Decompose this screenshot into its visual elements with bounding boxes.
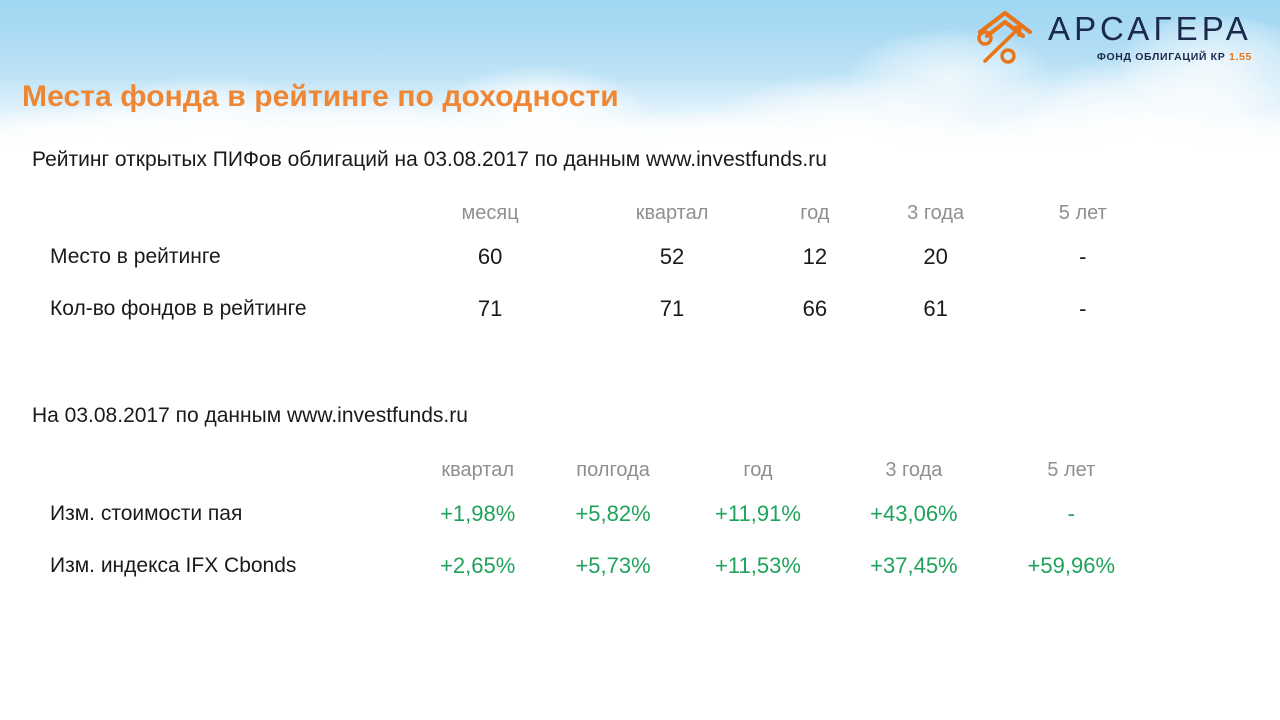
cell-unit-5years: -: [993, 488, 1150, 540]
column-header-5years: 5 лет: [1016, 195, 1150, 231]
table-row: Изм. индекса IFX Cbonds +2,65% +5,73% +1…: [32, 540, 1150, 592]
row-label-funds-count: Кол-во фондов в рейтинге: [32, 283, 410, 335]
cell-index-halfyear: +5,73%: [545, 540, 680, 592]
cell-count-month: 71: [410, 283, 570, 335]
column-header-5years: 5 лет: [993, 452, 1150, 488]
row-label-index-change: Изм. индекса IFX Cbonds: [32, 540, 410, 592]
column-header-halfyear: полгода: [545, 452, 680, 488]
cloud-decoration: [980, 58, 1280, 150]
cell-count-quarter: 71: [570, 283, 774, 335]
cloud-decoration: [560, 110, 840, 150]
cell-count-year: 66: [774, 283, 856, 335]
column-header-year: год: [774, 195, 856, 231]
column-header-blank: [32, 452, 410, 488]
table-header-row: квартал полгода год 3 года 5 лет: [32, 452, 1150, 488]
column-header-quarter: квартал: [410, 452, 545, 488]
column-header-blank: [32, 195, 410, 231]
cell-unit-year: +11,91%: [681, 488, 835, 540]
table-row: Кол-во фондов в рейтинге 71 71 66 61 -: [32, 283, 1150, 335]
cell-index-quarter: +2,65%: [410, 540, 545, 592]
table-row: Изм. стоимости пая +1,98% +5,82% +11,91%…: [32, 488, 1150, 540]
ranking-table: месяц квартал год 3 года 5 лет Место в р…: [32, 195, 1150, 335]
logo-subtitle: ФОНД ОБЛИГАЦИЙ КР 1.55: [1097, 51, 1252, 63]
logo-wordmark: АРСАГЕРА: [1048, 12, 1252, 45]
cell-unit-3years: +43,06%: [835, 488, 992, 540]
column-header-month: месяц: [410, 195, 570, 231]
logo-text-block: АРСАГЕРА ФОНД ОБЛИГАЦИЙ КР 1.55: [1048, 8, 1252, 63]
cell-unit-halfyear: +5,82%: [545, 488, 680, 540]
column-header-3years: 3 года: [856, 195, 1016, 231]
cell-count-3years: 61: [856, 283, 1016, 335]
cell-index-5years: +59,96%: [993, 540, 1150, 592]
column-header-3years: 3 года: [835, 452, 992, 488]
page-title: Места фонда в рейтинге по доходности: [22, 80, 619, 114]
table-row: Место в рейтинге 60 52 12 20 -: [32, 231, 1150, 283]
section2-lead-text: На 03.08.2017 по данным www.investfunds.…: [32, 404, 468, 428]
cloud-decoration: [700, 74, 1000, 150]
cell-rank-5years: -: [1016, 231, 1150, 283]
arsagera-house-percent-logo-icon: [972, 8, 1038, 66]
section1-lead-text: Рейтинг открытых ПИФов облигаций на 03.0…: [32, 148, 827, 172]
row-label-rank-position: Место в рейтинге: [32, 231, 410, 283]
cell-rank-year: 12: [774, 231, 856, 283]
cell-rank-quarter: 52: [570, 231, 774, 283]
column-header-year: год: [681, 452, 835, 488]
cell-count-5years: -: [1016, 283, 1150, 335]
performance-table: квартал полгода год 3 года 5 лет Изм. ст…: [32, 452, 1150, 592]
logo-subtitle-text: ФОНД ОБЛИГАЦИЙ КР: [1097, 51, 1226, 63]
cell-rank-3years: 20: [856, 231, 1016, 283]
logo-subtitle-version: 1.55: [1229, 51, 1252, 63]
row-label-unit-price-change: Изм. стоимости пая: [32, 488, 410, 540]
cell-index-3years: +37,45%: [835, 540, 992, 592]
cell-index-year: +11,53%: [681, 540, 835, 592]
table-header-row: месяц квартал год 3 года 5 лет: [32, 195, 1150, 231]
column-header-quarter: квартал: [570, 195, 774, 231]
arsagera-logo: АРСАГЕРА ФОНД ОБЛИГАЦИЙ КР 1.55: [972, 8, 1252, 66]
cell-rank-month: 60: [410, 231, 570, 283]
cell-unit-quarter: +1,98%: [410, 488, 545, 540]
